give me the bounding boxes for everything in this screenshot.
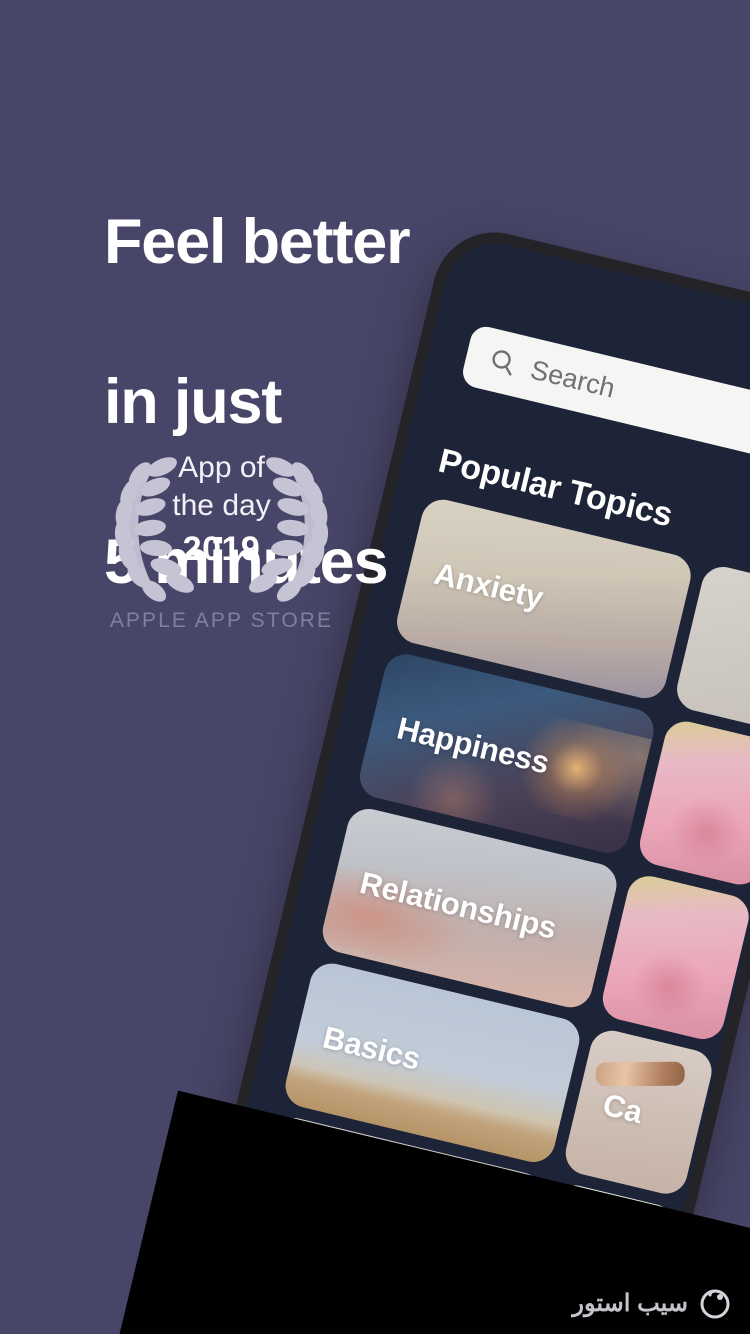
award-badge-text: App of the day 2019 <box>100 449 343 569</box>
award-year: 2019 <box>100 529 343 569</box>
topic-card-secondary[interactable] <box>598 872 750 1044</box>
award-line-1: App of <box>100 449 343 487</box>
headline-line-2: in just <box>104 362 584 442</box>
award-source: APPLE APP STORE <box>100 609 343 633</box>
award-line-2: the day <box>100 487 343 525</box>
watermark-text: سیب استور <box>572 1289 688 1318</box>
sib-store-logo-icon <box>698 1286 732 1320</box>
watermark: سیب استور <box>572 1286 732 1320</box>
award-badge: App of the day 2019 APPLE APP STORE <box>100 443 343 648</box>
headline-line-1: Feel better <box>104 202 584 282</box>
app-store-promo-screenshot: Feel better in just 5 minutes <box>0 0 750 1334</box>
card-artwork <box>635 717 750 889</box>
card-artwork <box>598 872 750 1044</box>
topic-card-secondary[interactable] <box>635 717 750 889</box>
